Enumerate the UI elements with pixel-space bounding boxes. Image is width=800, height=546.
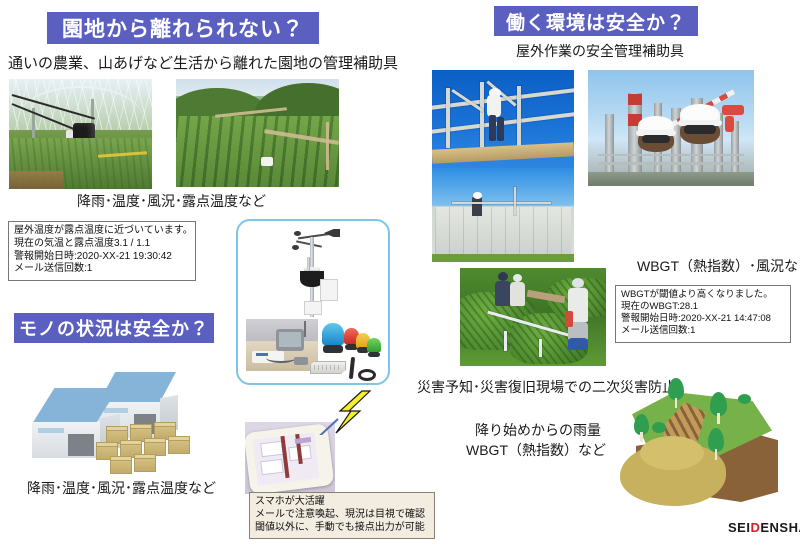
disaster-caption-line2: WBGT（熱指数）など: [466, 440, 606, 460]
photo-scaffolding: [432, 70, 574, 168]
alert-wbgt-line4: メール送信回数:1: [621, 325, 785, 337]
worksite-caption: WBGT（熱指数）･風況など: [637, 256, 800, 276]
photo-greenhouse-sensor: [9, 79, 152, 189]
photo-farm-workers: [460, 268, 606, 366]
goods-caption: 降雨･温度･風況･露点温度など: [27, 478, 216, 498]
alert-smartphone-line3: 閾値以外に、手動でも接点出力が可能: [255, 522, 429, 535]
alert-dewpoint-line2: 現在の気温と露点温度3.1 / 1.1: [14, 238, 190, 251]
banner-worksite: 働く環境は安全か？: [494, 6, 698, 36]
alert-wbgt-line3: 警報開始日時:2020-XX-21 14:47:08: [621, 313, 785, 325]
photo-display-console: [246, 319, 318, 371]
orchard-subtitle: 通いの農業、山あげなど生活から離れた園地の管理補助具: [8, 52, 398, 73]
beacon-lamp-icon: [322, 321, 382, 359]
illustration-landslide: [626, 378, 788, 514]
logo-accent-letter: D: [750, 520, 760, 535]
weather-station-icon: [280, 227, 350, 321]
company-logo: SEIDENSHA: [728, 520, 800, 535]
photo-building-netting: [432, 168, 574, 262]
banner-orchard: 園地から離れられない？: [47, 12, 319, 44]
logo-prefix: SEI: [728, 520, 750, 535]
alert-wbgt: WBGTが閾値より高くなりました。 現在のWBGT:28.1 警報開始日時:20…: [615, 285, 791, 343]
modem-antenna-icon: [310, 357, 382, 385]
worker-helmet-right: [680, 104, 720, 144]
slide-canvas: 園地から離れられない？ 通いの農業、山あげなど生活から離れた園地の管理補助具 降…: [0, 0, 800, 546]
alert-wbgt-line1: WBGTが閾値より高くなりました。: [621, 289, 785, 301]
alert-dewpoint-line4: メール送信回数:1: [14, 263, 190, 276]
photo-tea-field: [176, 79, 339, 187]
equipment-panel: [236, 219, 390, 385]
worker-helmet-left: [638, 116, 674, 152]
alert-wbgt-line2: 現在のWBGT:28.1: [621, 301, 785, 313]
disaster-caption-line1: 降り始めからの雨量: [475, 420, 601, 440]
alert-smartphone-line2: メールで注意喚起、現況は目視で確認: [255, 509, 429, 522]
banner-goods: モノの状況は安全か？: [14, 313, 214, 343]
alert-smartphone: スマホが大活躍 メールで注意喚起、現況は目視で確認 閾値以外に、手動でも接点出力…: [249, 492, 435, 539]
worksite-subtitle: 屋外作業の安全管理補助具: [516, 41, 684, 61]
logo-suffix: ENSHA: [760, 520, 800, 535]
illustration-warehouses: [24, 362, 214, 474]
alert-dewpoint-line1: 屋外温度が露点温度に近づいています。: [14, 225, 190, 238]
alert-dewpoint-line3: 警報開始日時:2020-XX-21 19:30:42: [14, 251, 190, 264]
orchard-caption: 降雨･温度･風況･露点温度など: [77, 191, 266, 211]
alert-dewpoint: 屋外温度が露点温度に近づいています。 現在の気温と露点温度3.1 / 1.1 警…: [8, 221, 196, 281]
alert-smartphone-line1: スマホが大活躍: [255, 496, 429, 509]
